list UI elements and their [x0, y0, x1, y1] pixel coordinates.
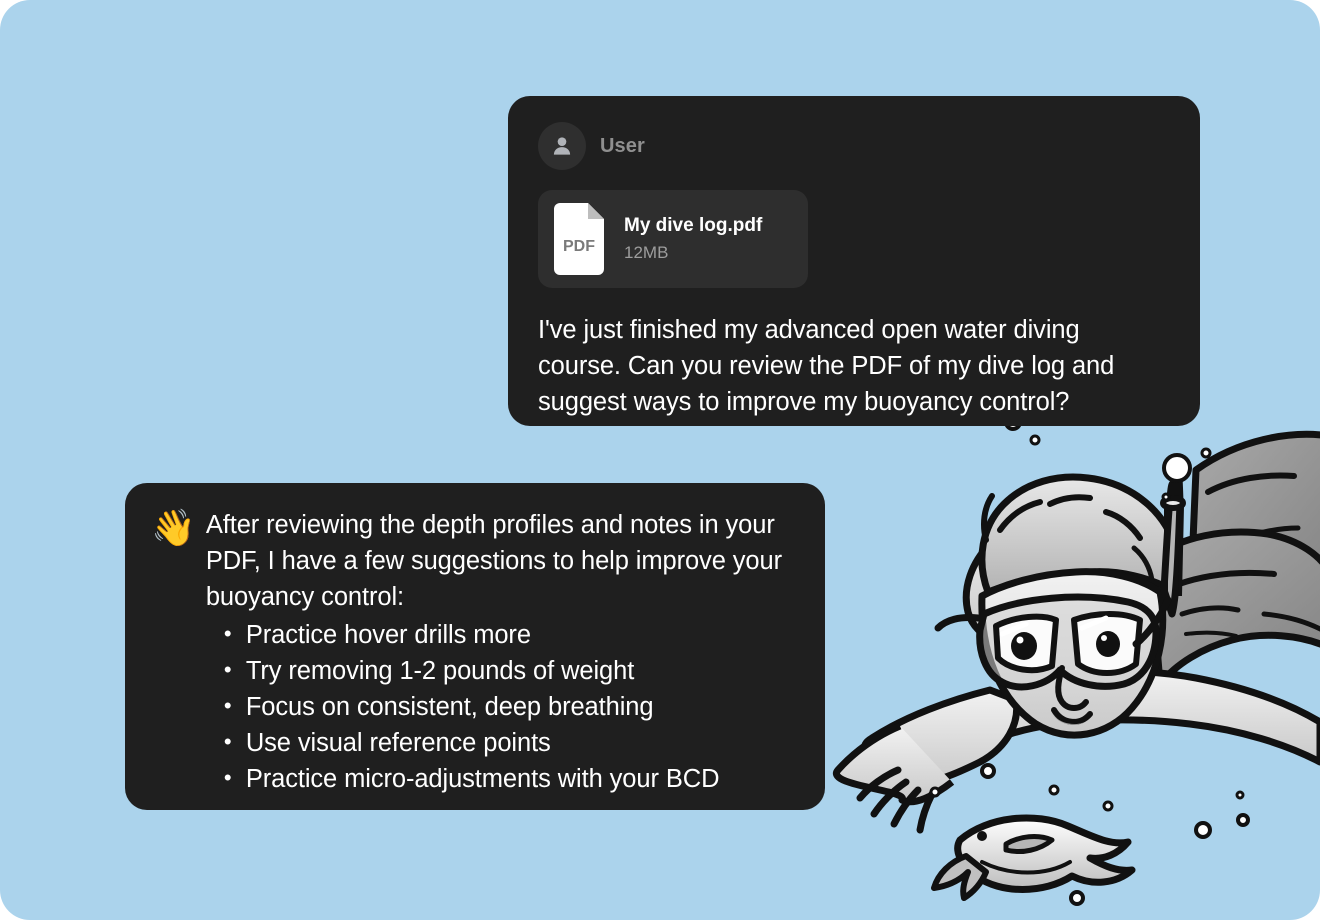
user-person-icon: [549, 133, 575, 159]
diver-figure: [836, 434, 1320, 830]
assistant-message-bubble: 👋 After reviewing the depth profiles and…: [125, 483, 825, 810]
assistant-intro-text: After reviewing the depth profiles and n…: [206, 507, 799, 615]
user-message-header: User: [538, 122, 1168, 170]
suggestion-list-item: Practice micro-adjustments with your BCD: [246, 761, 799, 797]
attachment-meta: My dive log.pdf 12MB: [624, 215, 762, 263]
pdf-file-icon: PDF: [550, 203, 608, 275]
suggestion-list-item: Focus on consistent, deep breathing: [246, 689, 799, 725]
suggestion-list: Practice hover drills moreTry removing 1…: [206, 617, 799, 797]
suggestion-list-item: Try removing 1-2 pounds of weight: [246, 653, 799, 689]
attachment-file-size: 12MB: [624, 243, 762, 263]
sender-name-label: User: [600, 135, 645, 158]
user-message-text: I've just finished my advanced open wate…: [538, 312, 1168, 420]
air-bubbles: [931, 383, 1248, 904]
avatar: [538, 122, 586, 170]
suggestion-list-item: Use visual reference points: [246, 725, 799, 761]
fish-figure: [934, 818, 1132, 898]
user-message-bubble: User PDF My dive log.pdf 12MB I've just …: [508, 96, 1200, 426]
screenshot-canvas: User PDF My dive log.pdf 12MB I've just …: [0, 0, 1320, 920]
waving-hand-emoji: 👋: [151, 509, 196, 547]
pdf-icon-label: PDF: [563, 238, 595, 255]
suggestion-list-item: Practice hover drills more: [246, 617, 799, 653]
attachment-file-name: My dive log.pdf: [624, 215, 762, 237]
attachment-card[interactable]: PDF My dive log.pdf 12MB: [538, 190, 808, 288]
